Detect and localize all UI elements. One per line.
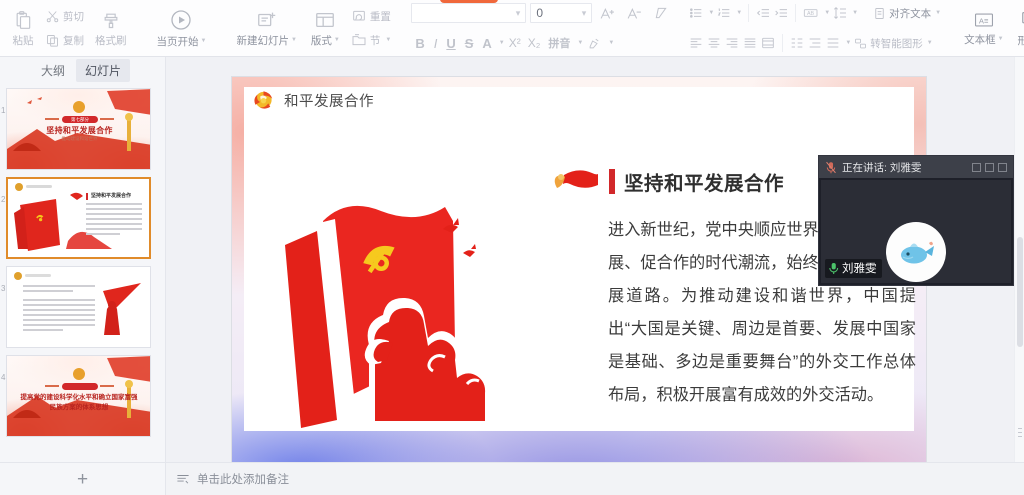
- slide-thumbnail-4[interactable]: 提高党的建设科学化水平和确立国家富强民族方案的体系思想: [6, 355, 151, 437]
- add-slide-button[interactable]: +: [77, 470, 88, 489]
- font-size-value: 0: [536, 6, 543, 20]
- paragraph-settings-icon[interactable]: [825, 35, 841, 51]
- ribbon-group-font: ▾ 0 ▾ B: [406, 0, 677, 56]
- microphone-muted-icon: [825, 161, 837, 174]
- new-slide-button[interactable]: 新建幻灯片 ▼: [229, 2, 303, 54]
- align-right-icon[interactable]: [724, 35, 740, 51]
- strikethrough-button[interactable]: S: [461, 36, 478, 51]
- play-circle-icon: [169, 8, 193, 32]
- slide-illustration: [277, 185, 562, 435]
- wps-presentation-window: 粘贴 剪切: [0, 0, 1024, 495]
- whale-avatar-icon: [894, 235, 938, 269]
- textbox-icon: A≡: [973, 10, 995, 30]
- paste-button[interactable]: 粘贴: [5, 2, 41, 54]
- align-center-icon[interactable]: [706, 35, 722, 51]
- chevron-down-icon[interactable]: ▼: [736, 10, 742, 16]
- phonetic-guide-button[interactable]: 拼音: [544, 35, 574, 51]
- bullet-list-icon[interactable]: [688, 5, 704, 21]
- waving-flag-icon: [554, 169, 600, 195]
- section-label: 节: [370, 33, 381, 48]
- italic-button[interactable]: I: [430, 36, 442, 51]
- chevron-down-icon[interactable]: ▼: [824, 10, 830, 16]
- scissors-icon: [45, 9, 60, 24]
- thumb-subtitle-1: 推动建设和谐世界: [7, 136, 151, 142]
- thumb-title-4: 提高党的建设科学化水平和确立国家富强民族方案的体系思想: [19, 393, 139, 413]
- cut-label: 剪切: [63, 9, 84, 24]
- align-left-icon[interactable]: [688, 35, 704, 51]
- ribbon-group-paragraph: ▼ ▼ AB ▼: [683, 0, 946, 56]
- clear-formatting-icon[interactable]: [650, 5, 672, 21]
- highlight-color-icon[interactable]: [584, 36, 605, 51]
- textbox-button[interactable]: A≡ 文本框 ▼: [957, 2, 1010, 54]
- slide-navigator-panel: 大纲 幻灯片 1: [0, 57, 166, 462]
- avatar: [886, 222, 946, 282]
- speaking-status-text: 正在讲话: 刘雅雯: [842, 160, 921, 175]
- bold-button[interactable]: B: [411, 36, 428, 51]
- layout-label: 版式: [311, 33, 332, 48]
- thumbnail-slot: 3: [6, 266, 154, 348]
- ribbon-group-slideshow: 当页开始 ▼: [145, 0, 219, 56]
- paste-label: 粘贴: [13, 33, 34, 48]
- decrease-indent-icon[interactable]: [755, 5, 771, 21]
- increase-font-size-icon[interactable]: [596, 5, 619, 22]
- new-slide-icon: [256, 9, 278, 31]
- convert-smartart-icon: [853, 36, 868, 51]
- chevron-down-icon[interactable]: ▼: [927, 40, 933, 46]
- decrease-font-size-icon[interactable]: [623, 5, 646, 22]
- slide-number: 4: [1, 373, 5, 382]
- new-slide-label: 新建幻灯片: [236, 33, 289, 48]
- font-name-caret-icon[interactable]: ▾: [516, 8, 521, 19]
- line-spacing-icon[interactable]: [832, 5, 848, 21]
- chevron-down-icon[interactable]: ▼: [852, 10, 858, 16]
- chevron-down-icon[interactable]: ▼: [577, 40, 583, 46]
- notes-icon: [176, 472, 190, 486]
- chevron-down-icon[interactable]: ▼: [998, 36, 1004, 42]
- chevron-down-icon[interactable]: ▼: [935, 10, 941, 16]
- ribbon-group-slides: 新建幻灯片 ▼ 版式 ▼: [224, 0, 400, 56]
- section-icon: [351, 32, 367, 48]
- video-stage[interactable]: 刘雅雯: [821, 180, 1011, 283]
- tab-outline[interactable]: 大纲: [32, 59, 74, 82]
- slide-thumbnail-1[interactable]: 坚持和平发展合作 推动建设和谐世界 第七部分: [6, 88, 151, 170]
- justify-icon[interactable]: [742, 35, 758, 51]
- scrollbar-thumb[interactable]: [1017, 237, 1023, 347]
- reset-button[interactable]: 重置: [347, 4, 395, 28]
- video-window-controls[interactable]: [972, 163, 1007, 172]
- font-size-input[interactable]: 0 ▾: [530, 3, 592, 23]
- shapes-icon: [1020, 9, 1024, 31]
- slide-content-heading: 坚持和平发展合作: [554, 167, 784, 196]
- start-here-label: 当页开始: [157, 34, 199, 49]
- participant-name: 刘雅雯: [842, 260, 877, 276]
- reset-label: 重置: [370, 9, 391, 24]
- thumb-title-2: 坚持和平发展合作: [91, 192, 131, 199]
- subscript-button[interactable]: X₂: [525, 36, 544, 50]
- thumbnail-slot: 2 坚持和平发展合作: [6, 177, 154, 259]
- layout-icon: [314, 9, 336, 31]
- microphone-active-icon: [828, 262, 839, 275]
- add-slide-bar[interactable]: +: [0, 462, 166, 495]
- textbox-label: 文本框: [964, 32, 996, 47]
- thumb-body-lines-3: [23, 285, 95, 331]
- underline-button[interactable]: U: [442, 36, 459, 51]
- convert-smartart-label[interactable]: 转智能图形: [870, 36, 923, 51]
- slide-title-text: 坚持和平发展合作: [624, 167, 784, 196]
- minimize-icon: [972, 163, 981, 172]
- title-accent-bar: [609, 169, 615, 194]
- shape-button[interactable]: 形状 ▼: [1011, 2, 1024, 54]
- chevron-down-icon[interactable]: ▼: [708, 10, 714, 16]
- slide-number: 3: [1, 284, 5, 293]
- video-call-overlay[interactable]: 正在讲话: 刘雅雯: [818, 155, 1014, 286]
- align-text-label[interactable]: 对齐文本: [889, 6, 931, 21]
- format-painter-label: 格式刷: [95, 33, 127, 48]
- notes-pane[interactable]: 单击此处添加备注: [166, 462, 1024, 495]
- maximize-icon: [985, 163, 994, 172]
- slide-header: 和平发展合作: [250, 87, 374, 113]
- ribbon-group-insert: A≡ 文本框 ▼ 形状 ▼: [952, 0, 1024, 56]
- copy-icon: [45, 33, 60, 48]
- tab-slides[interactable]: 幻灯片: [76, 59, 130, 82]
- chevron-down-icon[interactable]: ▼: [385, 37, 391, 43]
- copy-button[interactable]: 复制: [41, 28, 88, 52]
- slide-thumbnail-list[interactable]: 1 坚持和: [0, 84, 166, 462]
- chevron-down-icon[interactable]: ▼: [845, 40, 851, 46]
- party-emblem-icon: [250, 87, 277, 113]
- close-icon: [998, 163, 1007, 172]
- chevron-down-icon[interactable]: ▼: [201, 38, 207, 44]
- numbered-list-icon[interactable]: [716, 5, 732, 21]
- columns-icon[interactable]: [789, 35, 805, 51]
- participant-name-badge: 刘雅雯: [825, 259, 882, 278]
- cut-button[interactable]: 剪切: [41, 4, 88, 28]
- distribute-icon[interactable]: [760, 35, 776, 51]
- notes-placeholder: 单击此处添加备注: [197, 471, 289, 487]
- ribbon-toolbar: 粘贴 剪切: [0, 0, 1024, 57]
- thumb-badge-1: 第七部分: [68, 117, 92, 123]
- reset-icon: [351, 8, 367, 24]
- format-painter-button[interactable]: 格式刷: [88, 2, 134, 54]
- slide-number: 1: [1, 106, 5, 115]
- svg-text:A≡: A≡: [979, 16, 989, 25]
- svg-text:AB: AB: [807, 11, 815, 17]
- ribbon-group-clipboard: 粘贴 剪切: [0, 0, 139, 56]
- paste-icon: [12, 9, 34, 31]
- chevron-down-icon[interactable]: ▼: [608, 40, 614, 46]
- increase-indent-icon[interactable]: [773, 5, 789, 21]
- superscript-button[interactable]: X²: [506, 36, 524, 50]
- navigator-tabs: 大纲 幻灯片: [0, 57, 165, 84]
- thumbnail-slot: 1 坚持和: [6, 88, 154, 170]
- format-painter-icon: [100, 9, 122, 31]
- text-direction-icon[interactable]: AB: [802, 5, 820, 21]
- slide-editing-stage: 和平发展合作: [166, 57, 1024, 462]
- rtl-text-icon[interactable]: [807, 35, 823, 51]
- text-color-button[interactable]: A: [478, 36, 495, 51]
- scrollbar-extra-controls[interactable]: [1018, 425, 1022, 440]
- copy-label: 复制: [63, 33, 84, 48]
- chevron-down-icon[interactable]: ▼: [291, 37, 297, 43]
- shape-label: 形状: [1018, 33, 1024, 48]
- vertical-scrollbar[interactable]: [1014, 57, 1024, 462]
- slide-thumbnail-3[interactable]: [6, 266, 151, 348]
- font-name-input[interactable]: ▾: [411, 3, 526, 23]
- thumbnail-slot: 4 提高党的建设科学化水平和确立国家富强民族方案的体系思想: [6, 355, 154, 437]
- align-text-icon: [872, 6, 887, 21]
- section-button[interactable]: 节 ▼: [347, 28, 395, 52]
- thumb-body-lines-2: [86, 203, 142, 235]
- start-from-current-slide-button[interactable]: 当页开始 ▼: [150, 2, 214, 54]
- video-overlay-titlebar[interactable]: 正在讲话: 刘雅雯: [819, 156, 1013, 178]
- thumb-title-1: 坚持和平发展合作: [7, 125, 151, 136]
- chevron-down-icon[interactable]: ▼: [334, 37, 340, 43]
- font-size-caret-icon[interactable]: ▾: [582, 8, 587, 19]
- slide-header-title: 和平发展合作: [284, 90, 374, 111]
- chevron-down-icon[interactable]: ▼: [499, 40, 505, 46]
- slide-number: 2: [1, 195, 5, 204]
- layout-button[interactable]: 版式 ▼: [304, 2, 347, 54]
- slide-thumbnail-2[interactable]: 坚持和平发展合作: [6, 177, 151, 259]
